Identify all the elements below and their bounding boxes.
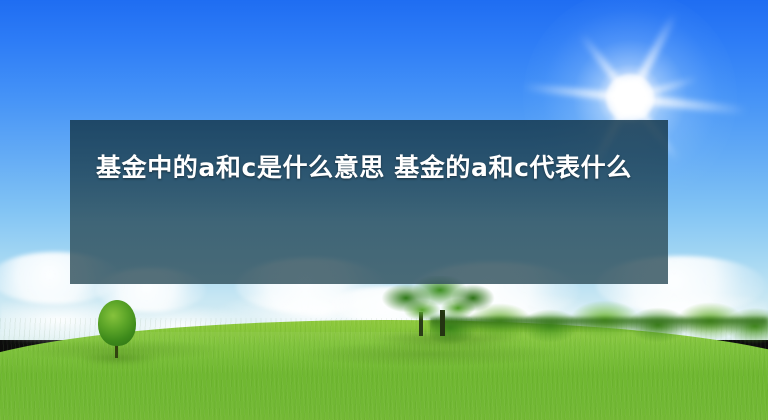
sun-core-icon [606, 74, 654, 122]
large-tree-cluster [378, 276, 500, 332]
lone-round-tree [98, 300, 136, 346]
tree-cluster-shadow [372, 330, 522, 348]
headline-text: 基金中的a和c是什么意思 基金的a和c代表什么 [96, 142, 642, 193]
banner-image: 基金中的a和c是什么意思 基金的a和c代表什么 [0, 0, 768, 420]
dark-caption-panel: 基金中的a和c是什么意思 基金的a和c代表什么 [70, 120, 668, 284]
lone-tree-shadow [78, 352, 158, 365]
